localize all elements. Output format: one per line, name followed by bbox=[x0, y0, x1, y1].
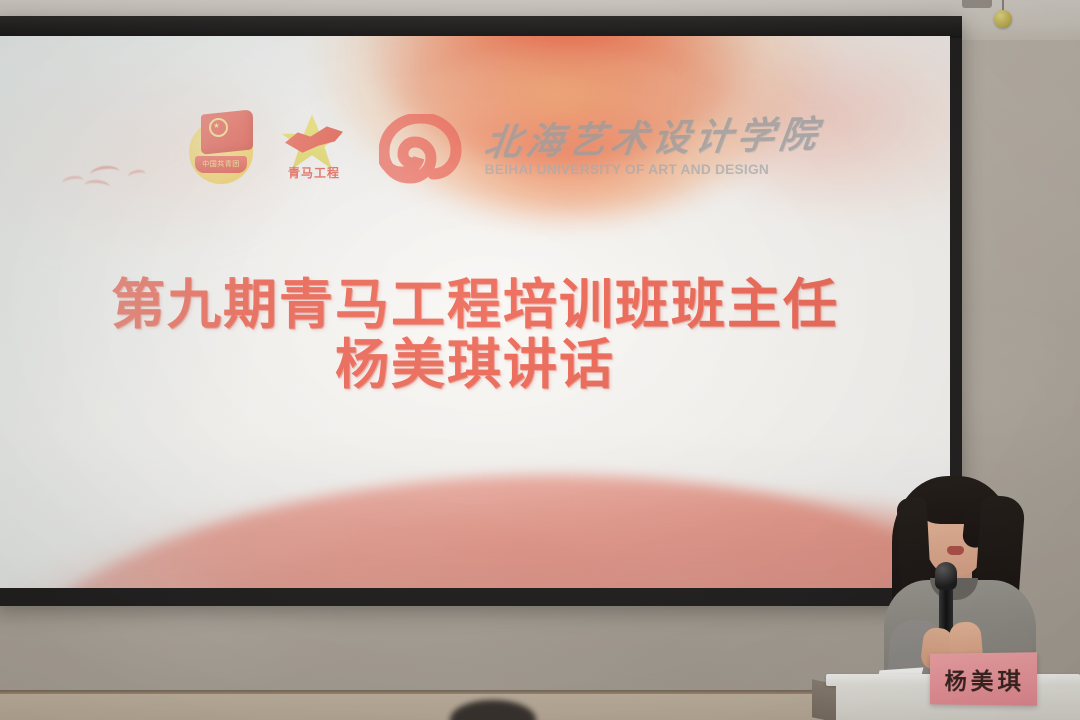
university-name-cn: 北海艺术设计学院 bbox=[482, 115, 824, 163]
slide-title-line2: 杨美琪讲话 bbox=[0, 334, 950, 394]
screen-pull-cord-ball-icon[interactable] bbox=[994, 10, 1012, 28]
university-wordmark: 北海艺术设计学院 BEIHAI UNIVERSITY OF ART AND DE… bbox=[485, 119, 821, 177]
qingma-label: 青马工程 bbox=[282, 164, 346, 181]
communist-youth-league-emblem-icon: 中国共青团 bbox=[185, 108, 261, 188]
cyl-star-icon bbox=[209, 118, 228, 137]
cyl-flag bbox=[201, 109, 253, 154]
speaker-name-card-text: 杨美琪 bbox=[941, 662, 1025, 697]
projection-screen-top-bar bbox=[0, 16, 962, 38]
slide-title: 第九期青马工程培训班班主任 杨美琪讲话 bbox=[0, 274, 950, 395]
beihai-university-spiral-logo-icon bbox=[379, 108, 463, 188]
cyl-ribbon-label: 中国共青团 bbox=[195, 156, 247, 173]
qingma-project-logo-icon: 青马工程 bbox=[275, 108, 353, 188]
slide-title-line1: 第九期青马工程培训班班主任 bbox=[111, 272, 839, 336]
presentation-slide: 中国共青团 青马工程 北海艺术设计学院 BEIHAI UNIVERSITY OF… bbox=[0, 36, 950, 588]
screen-mount-bracket bbox=[962, 0, 992, 8]
lecture-hall-photo: 中国共青团 青马工程 北海艺术设计学院 BEIHAI UNIVERSITY OF… bbox=[0, 0, 1080, 720]
university-name-en: BEIHAI UNIVERSITY OF ART AND DESIGN bbox=[485, 162, 825, 177]
speaker-mouth bbox=[947, 546, 964, 555]
microphone-head-icon bbox=[935, 562, 957, 590]
slide-logo-row: 中国共青团 青马工程 北海艺术设计学院 BEIHAI UNIVERSITY OF… bbox=[185, 108, 821, 188]
speaker-name-card: 杨美琪 bbox=[930, 652, 1037, 706]
